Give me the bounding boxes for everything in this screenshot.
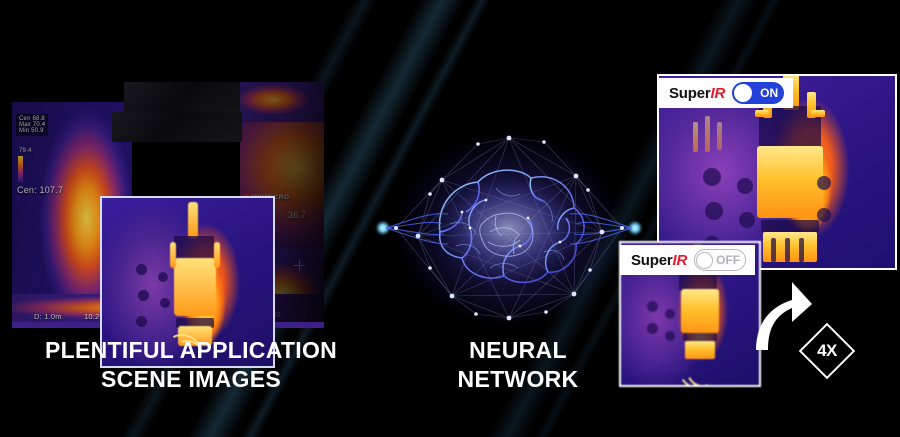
toggle-knob [696, 252, 713, 269]
zoom-4x-label: 4X [798, 322, 856, 380]
toggle-state-label: ON [760, 87, 778, 99]
caption-left-line2: SCENE IMAGES [6, 365, 376, 394]
superir-on-toggle[interactable]: ON [732, 82, 784, 104]
neural-network-graphic [378, 128, 640, 328]
caption-left-line1: PLENTIFUL APPLICATION [6, 336, 376, 365]
caption-center: NEURAL NETWORK [402, 336, 634, 394]
brain-wireframe-icon [378, 128, 640, 328]
promo-graphic-canvas: Cen 68.8 Max 70.4 Min 50.9 79.4 Cen: 107… [0, 0, 900, 437]
superir-off-brand-label: SuperIR [631, 253, 687, 268]
superir-on-badge[interactable]: SuperIR ON [658, 78, 793, 108]
superir-off-toggle[interactable]: OFF [694, 249, 746, 271]
caption-left: PLENTIFUL APPLICATION SCENE IMAGES [6, 336, 376, 394]
thermal-image-collage: Cen 68.8 Max 70.4 Min 50.9 79.4 Cen: 107… [12, 82, 324, 322]
zoom-4x-badge: 4X [798, 322, 856, 380]
caption-center-line2: NETWORK [402, 365, 634, 394]
caption-center-line1: NEURAL [402, 336, 634, 365]
toggle-state-label: OFF [716, 254, 740, 266]
superir-off-badge[interactable]: SuperIR OFF [620, 245, 755, 275]
superir-on-brand-label: SuperIR [669, 86, 725, 101]
toggle-knob [734, 84, 752, 102]
